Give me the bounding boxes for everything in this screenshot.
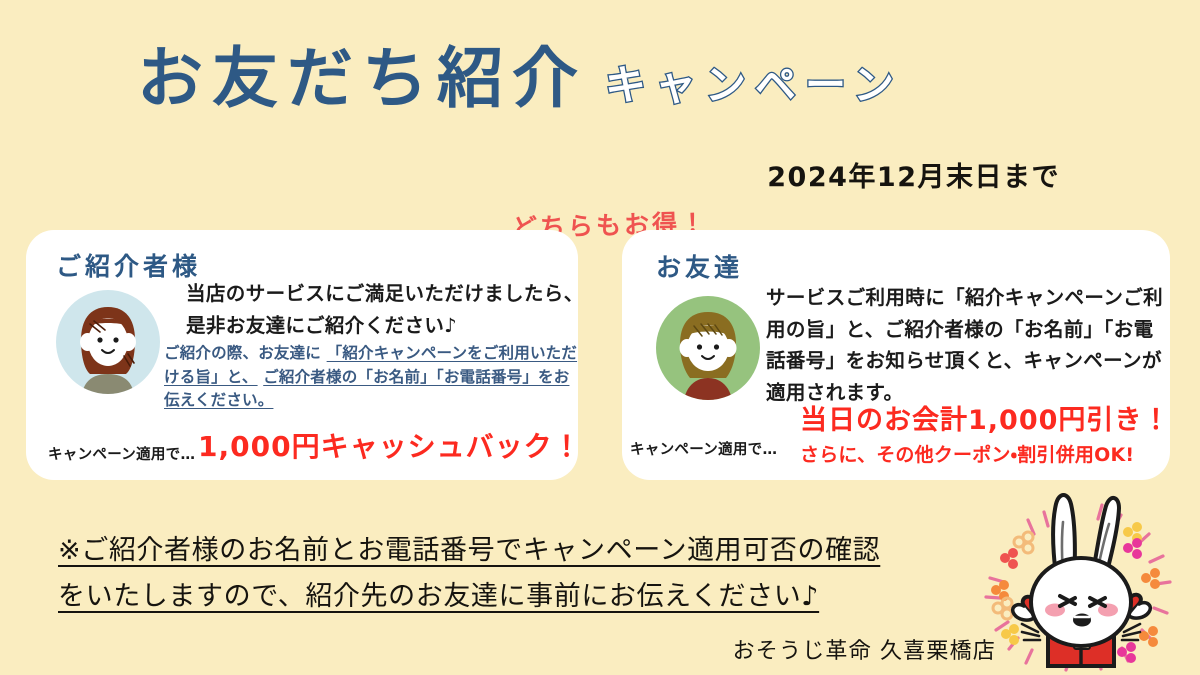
- card-friend-offer-sub: さらに、その他クーポン・割引併用OK!: [800, 446, 1134, 465]
- poster-title: お友だち紹介 キャンペーン: [0, 46, 1040, 112]
- card-referrer-lead: 当店のサービスにご満足いただけましたら、是非お友達にご紹介ください♪: [186, 278, 586, 341]
- card-friend: お友達 サービスご利用時に「紹介キャンペーンご利用の旨」と、ご紹介者様の「お名前…: [622, 230, 1170, 480]
- campaign-deadline: 2024年12月末日まで: [767, 155, 1060, 194]
- footer-note-line-1: ※ご紹介者様のお名前とお電話番号でキャンペーン適用可否の確認: [58, 528, 978, 574]
- footer-note: ※ご紹介者様のお名前とお電話番号でキャンペーン適用可否の確認 をいたしますので、…: [58, 528, 978, 621]
- rabbit-mascot-icon: [962, 486, 1200, 675]
- card-referrer-offer: 1,000円キャッシュバック！: [198, 433, 582, 461]
- title-main-text: お友だち紹介: [137, 46, 587, 112]
- card-referrer: ご紹介者様 当店のサービスにご満足いただけましたら、是非お友達にご紹介ください♪…: [26, 230, 578, 480]
- card-referrer-applied-label: キャンペーン適用で…: [48, 443, 195, 464]
- campaign-poster: お友だち紹介 キャンペーン 2024年12月末日まで どちらもお得！ ご紹介者様…: [0, 0, 1200, 675]
- card-referrer-note: ご紹介の際、お友達に 「紹介キャンペーンをご利用いただける旨」と、 ご紹介者様の…: [164, 342, 584, 413]
- card-friend-lead: サービスご利用時に「紹介キャンペーンご利用の旨」と、ご紹介者様の「お名前」「お電…: [766, 282, 1166, 408]
- card-referrer-label: ご紹介者様: [56, 254, 201, 279]
- title-sub-text: キャンペーン: [605, 65, 903, 106]
- shop-name: おそうじ革命 久喜栗橋店: [733, 633, 996, 665]
- female-avatar-icon: [56, 290, 160, 394]
- card-friend-label: お友達: [656, 255, 743, 280]
- male-avatar-icon: [656, 296, 760, 400]
- footer-note-line-2: をいたしますので、紹介先のお友達に事前にお伝えください♪: [58, 574, 978, 620]
- note-line-1: ご紹介の際、お友達に: [164, 344, 321, 362]
- card-friend-applied-label: キャンペーン適用で…: [630, 438, 777, 459]
- card-friend-offer-main: 当日のお会計1,000円引き！: [800, 407, 1170, 434]
